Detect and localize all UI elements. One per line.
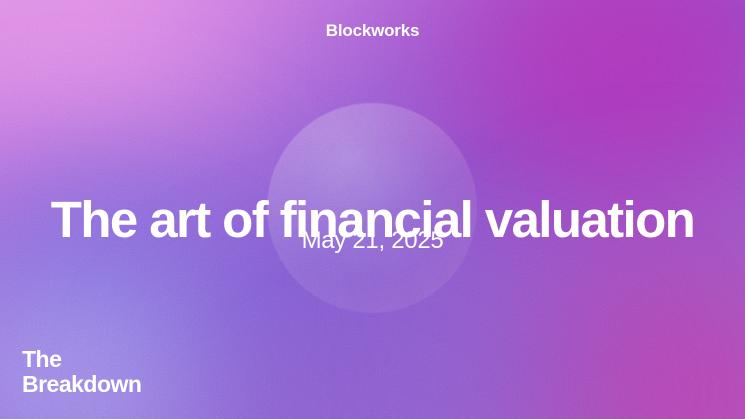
podcast-cover-slide: Blockworks The art of financial valuatio… <box>0 0 745 419</box>
show-title-line-1: The <box>22 347 141 372</box>
show-title-line-2: Breakdown <box>22 372 141 397</box>
episode-date: May 21, 2025 <box>0 226 745 255</box>
blockworks-logo: Blockworks <box>0 21 745 41</box>
show-title: The Breakdown <box>22 347 141 397</box>
